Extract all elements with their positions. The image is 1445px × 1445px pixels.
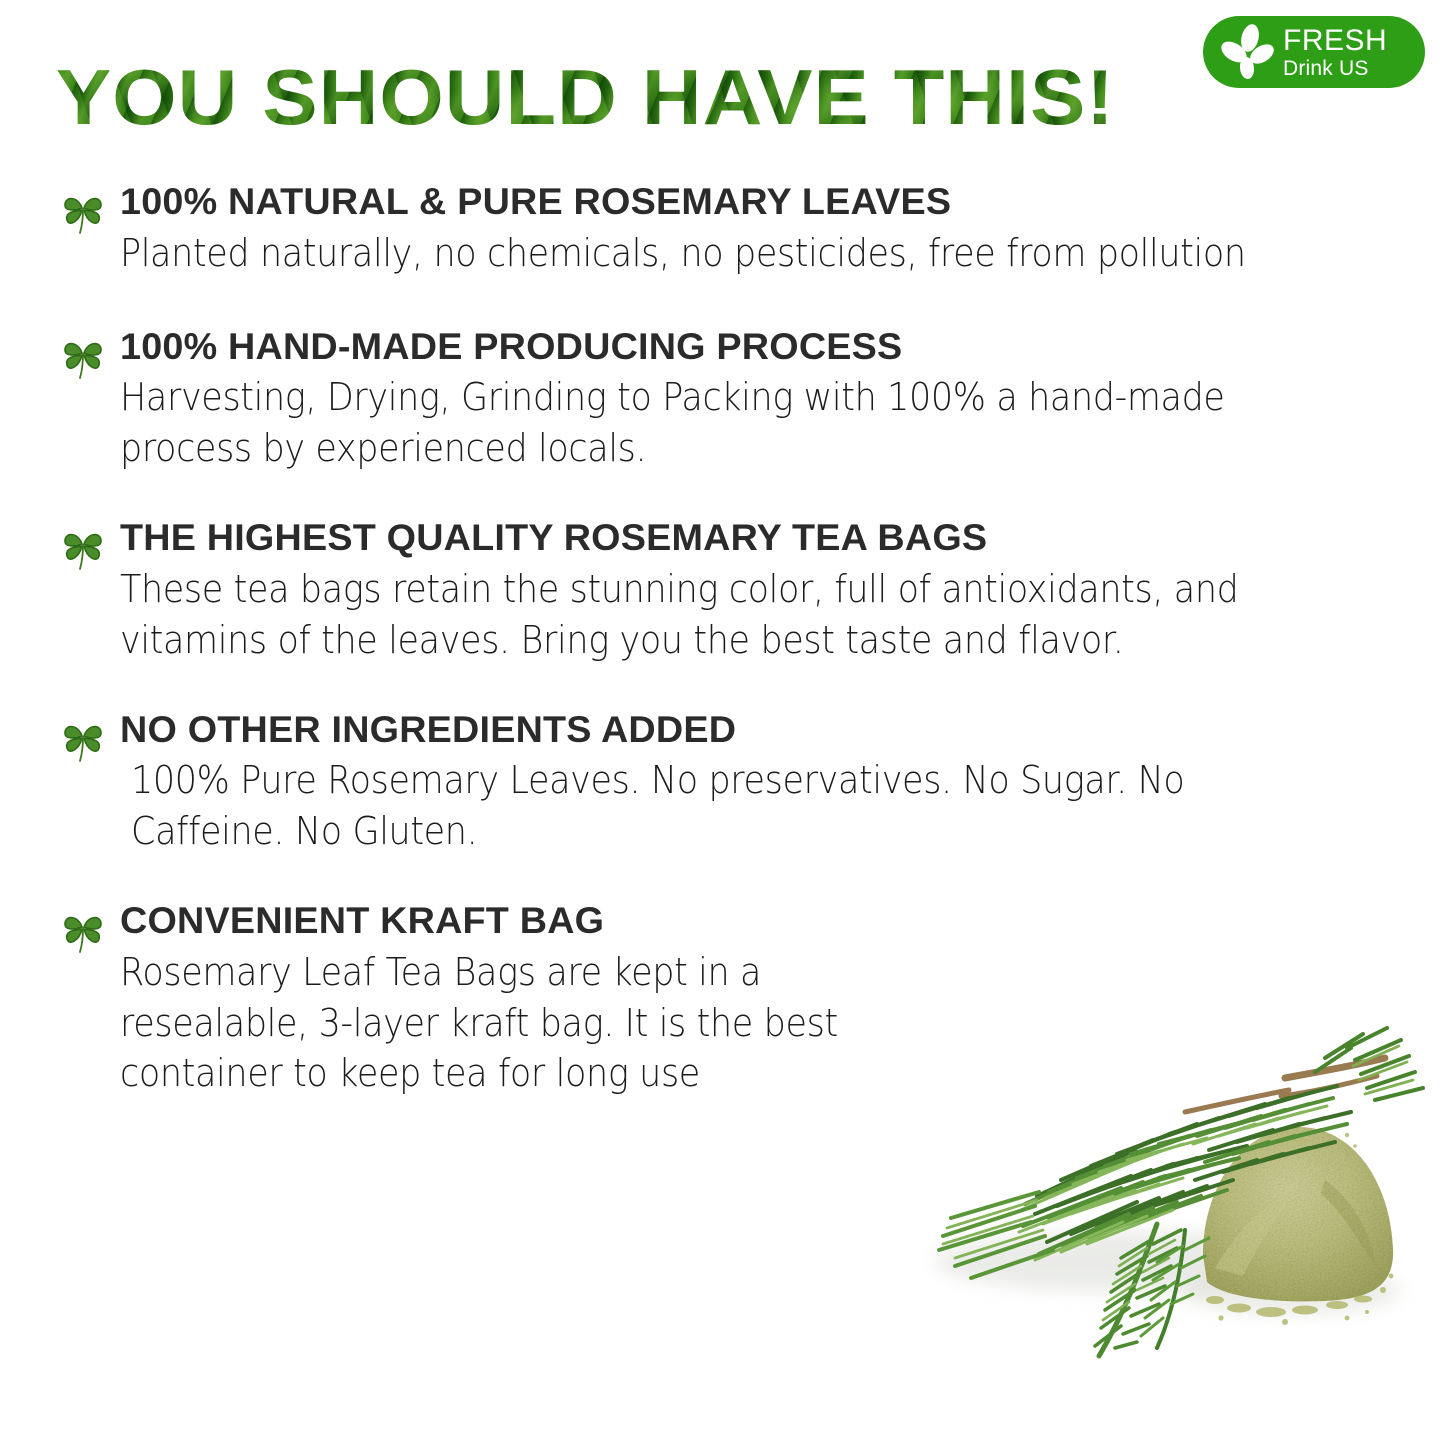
four-leaf-clover-icon (58, 186, 108, 236)
feature-item: THE HIGHEST QUALITY ROSEMARY TEA BAGS Th… (0, 516, 1445, 665)
brand-name-secondary: Drink US (1283, 58, 1387, 79)
four-leaf-clover-icon (58, 714, 108, 764)
feature-item: NO OTHER INGREDIENTS ADDED 100% Pure Ros… (0, 708, 1445, 857)
feature-body: Rosemary Leaf Tea Bags are kept in a res… (120, 947, 884, 1100)
product-photo (885, 1000, 1445, 1420)
feature-body: Harvesting, Drying, Grinding to Packing … (120, 372, 1339, 474)
infographic-page: FRESH Drink US YOU SHOULD HAVE THIS! 100… (0, 0, 1445, 1445)
four-leaf-clover-icon (58, 905, 108, 955)
feature-item: 100% HAND-MADE PRODUCING PROCESS Harvest… (0, 325, 1445, 474)
page-title: YOU SHOULD HAVE THIS! (56, 57, 1243, 139)
four-leaf-clover-icon (58, 331, 108, 381)
feature-item: 100% NATURAL & PURE ROSEMARY LEAVES Plan… (0, 180, 1445, 279)
feature-body: These tea bags retain the stunning color… (120, 564, 1339, 666)
brand-wordmark: FRESH Drink US (1283, 26, 1387, 79)
feature-heading: 100% HAND-MADE PRODUCING PROCESS (120, 325, 1445, 369)
feature-body: 100% Pure Rosemary Leaves. No preservati… (120, 755, 1339, 857)
four-leaf-clover-icon (58, 522, 108, 572)
brand-name-primary: FRESH (1283, 26, 1387, 56)
feature-body: Planted naturally, no chemicals, no pest… (120, 228, 1339, 279)
feature-list: 100% NATURAL & PURE ROSEMARY LEAVES Plan… (0, 180, 1445, 1099)
feature-heading: CONVENIENT KRAFT BAG (120, 899, 1445, 943)
feature-heading: NO OTHER INGREDIENTS ADDED (120, 708, 1445, 752)
feature-heading: THE HIGHEST QUALITY ROSEMARY TEA BAGS (120, 516, 1445, 560)
feature-heading: 100% NATURAL & PURE ROSEMARY LEAVES (120, 180, 1445, 224)
